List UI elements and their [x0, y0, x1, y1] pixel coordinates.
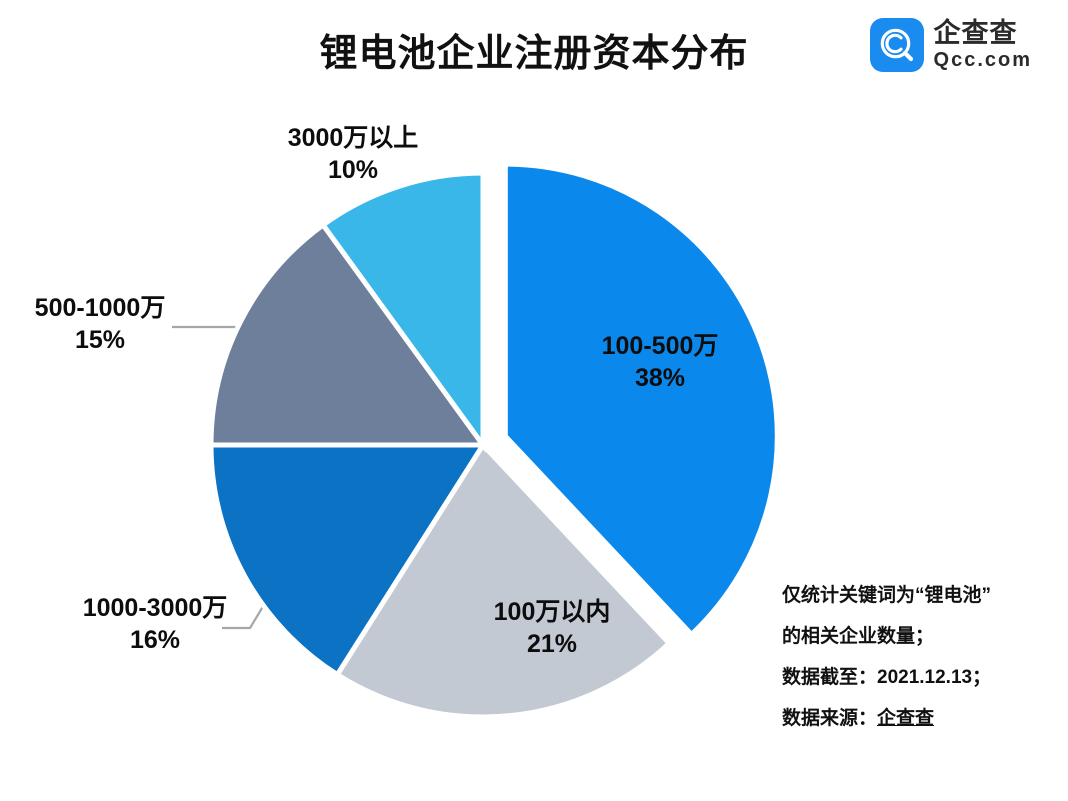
slice-label-100-500: 100-500万 38% — [540, 330, 780, 394]
slice-label-pct: 16% — [40, 624, 270, 656]
slice-label-text: 500-1000万 — [35, 294, 166, 322]
footnote-line-2: 的相关企业数量； — [782, 627, 1052, 646]
slice-label-pct: 38% — [540, 362, 780, 394]
slice-label-3000-up: 3000万以上 10% — [248, 122, 458, 186]
slice-label-text: 100万以内 — [494, 598, 611, 626]
slice-label-pct: 21% — [432, 628, 672, 660]
footnote-source-prefix: 数据来源： — [782, 708, 877, 729]
slice-label-text: 1000-3000万 — [83, 594, 228, 622]
slice-label-500-1000: 500-1000万 15% — [20, 292, 180, 356]
slice-label-pct: 10% — [248, 154, 458, 186]
footnote: 仅统计关键词为“锂电池” 的相关企业数量； 数据截至：2021.12.13； 数… — [782, 586, 1052, 728]
footnote-line-4: 数据来源：企查查 — [782, 709, 1052, 728]
slice-label-100-inner: 100万以内 21% — [432, 596, 672, 660]
slice-label-pct: 15% — [20, 324, 180, 356]
footnote-line-3: 数据截至：2021.12.13； — [782, 668, 1052, 687]
footnote-line-1: 仅统计关键词为“锂电池” — [782, 586, 1052, 605]
slice-label-text: 100-500万 — [602, 332, 719, 360]
footnote-source-link: 企查查 — [877, 708, 934, 729]
slice-label-text: 3000万以上 — [288, 124, 419, 152]
slice-label-1000-3000: 1000-3000万 16% — [40, 592, 270, 656]
